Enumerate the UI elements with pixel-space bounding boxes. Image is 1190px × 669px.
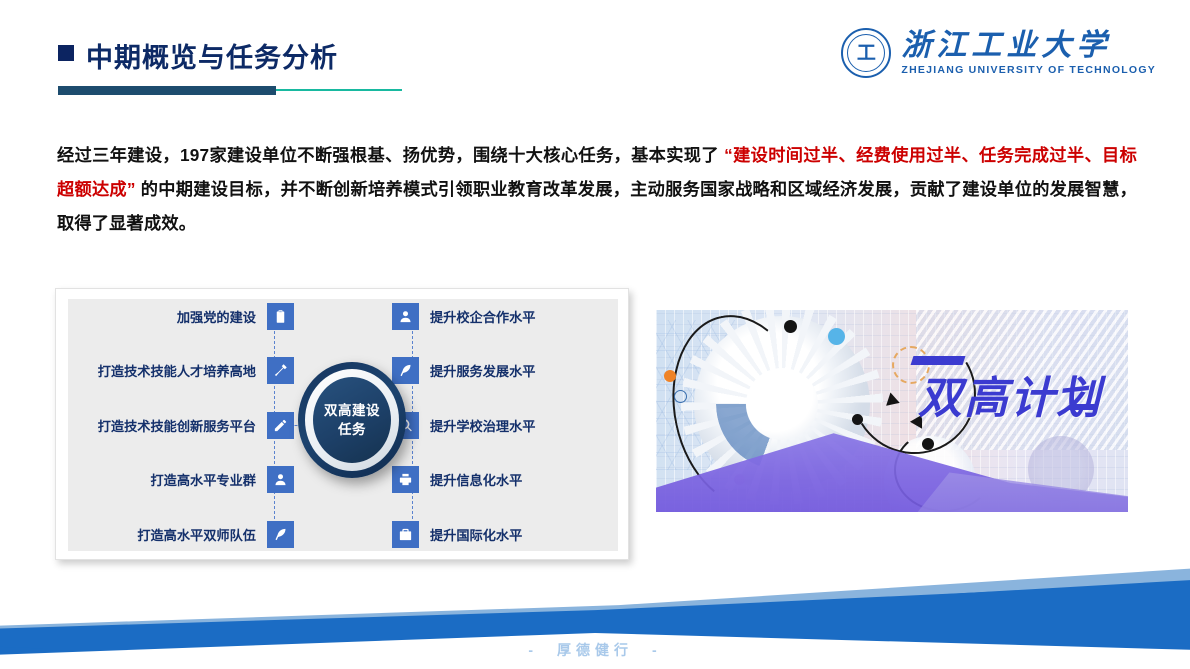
- task-row-right[interactable]: 提升学校治理水平: [392, 408, 536, 442]
- banner-node-dot: [922, 438, 934, 450]
- task-label: 打造技术技能创新服务平台: [98, 416, 256, 435]
- diagram-center-node: 双高建设 任务: [298, 362, 406, 478]
- banner-node-dot: [852, 414, 863, 425]
- banner-title-tail: [1069, 404, 1099, 410]
- task-label: 打造技术技能人才培养高地: [98, 361, 256, 380]
- task-label: 加强党的建设: [177, 307, 256, 326]
- seal-mark: 工: [857, 44, 876, 63]
- footer-motto: - 厚德健行 -: [0, 640, 1190, 660]
- clipboard-icon: [267, 303, 294, 330]
- slide-header: 中期概览与任务分析 工 浙江工业大学 ZHEJIANG UNIVERSITY O…: [0, 0, 1190, 110]
- person-icon: [267, 466, 294, 493]
- task-row-left[interactable]: 打造技术技能创新服务平台: [98, 408, 294, 442]
- slide-root: 中期概览与任务分析 工 浙江工业大学 ZHEJIANG UNIVERSITY O…: [0, 0, 1190, 669]
- shuanggao-banner-image: 双高计划: [656, 310, 1128, 512]
- task-row-right[interactable]: 提升服务发展水平: [392, 353, 536, 387]
- briefcase-icon: [392, 521, 419, 548]
- task-row-left[interactable]: 打造技术技能人才培养高地: [98, 353, 294, 387]
- university-logo: 工 浙江工业大学 ZHEJIANG UNIVERSITY OF TECHNOLO…: [841, 24, 1156, 82]
- banner-orange-dot: [664, 370, 676, 382]
- task-label: 提升服务发展水平: [430, 361, 536, 380]
- paragraph-part-1: 经过三年建设，197家建设单位不断强根基、扬优势，围绕十大核心任务，基本实现了: [57, 145, 724, 165]
- title-underline-teal: [276, 89, 402, 91]
- banner-ring-dot: [674, 390, 687, 403]
- square-bullet-icon: [58, 45, 74, 61]
- task-label: 提升学校治理水平: [430, 416, 536, 435]
- task-row-right[interactable]: 提升国际化水平: [392, 517, 522, 551]
- center-label-line1: 双高建设: [324, 401, 380, 420]
- banner-node-dot: [784, 320, 797, 333]
- task-label: 提升国际化水平: [430, 525, 522, 544]
- banner-title: 双高计划: [918, 362, 1102, 426]
- logo-name-cn: 浙江工业大学: [901, 30, 1156, 62]
- task-label: 提升校企合作水平: [430, 307, 536, 326]
- page-title: 中期概览与任务分析: [86, 36, 338, 75]
- person-icon: [392, 303, 419, 330]
- task-label: 提升信息化水平: [430, 470, 522, 489]
- task-row-left[interactable]: 打造高水平双师队伍: [137, 517, 294, 551]
- task-row-left[interactable]: 加强党的建设: [177, 299, 294, 333]
- paragraph-part-2: 的中期建设目标，并不断创新培养模式引领职业教育改革发展，主动服务国家战略和区域经…: [57, 179, 1137, 233]
- center-label-line2: 任务: [338, 420, 366, 439]
- center-inner-disc: 双高建设 任务: [313, 377, 391, 463]
- logo-text: 浙江工业大学 ZHEJIANG UNIVERSITY OF TECHNOLOGY: [901, 30, 1156, 76]
- task-row-right[interactable]: 提升校企合作水平: [392, 299, 536, 333]
- logo-name-en: ZHEJIANG UNIVERSITY OF TECHNOLOGY: [901, 64, 1156, 76]
- task-row-left[interactable]: 打造高水平专业群: [151, 462, 295, 496]
- banner-blue-dot: [828, 328, 845, 345]
- university-seal-icon: 工: [841, 28, 891, 78]
- flashlight-icon: [267, 357, 294, 384]
- summary-paragraph: 经过三年建设，197家建设单位不断强根基、扬优势，围绕十大核心任务，基本实现了 …: [57, 138, 1137, 240]
- pencil-icon: [267, 412, 294, 439]
- feather-icon: [267, 521, 294, 548]
- task-row-right[interactable]: 提升信息化水平: [392, 462, 522, 496]
- title-underline-dark: [58, 86, 276, 95]
- task-label: 打造高水平双师队伍: [137, 525, 256, 544]
- task-label: 打造高水平专业群: [151, 470, 257, 489]
